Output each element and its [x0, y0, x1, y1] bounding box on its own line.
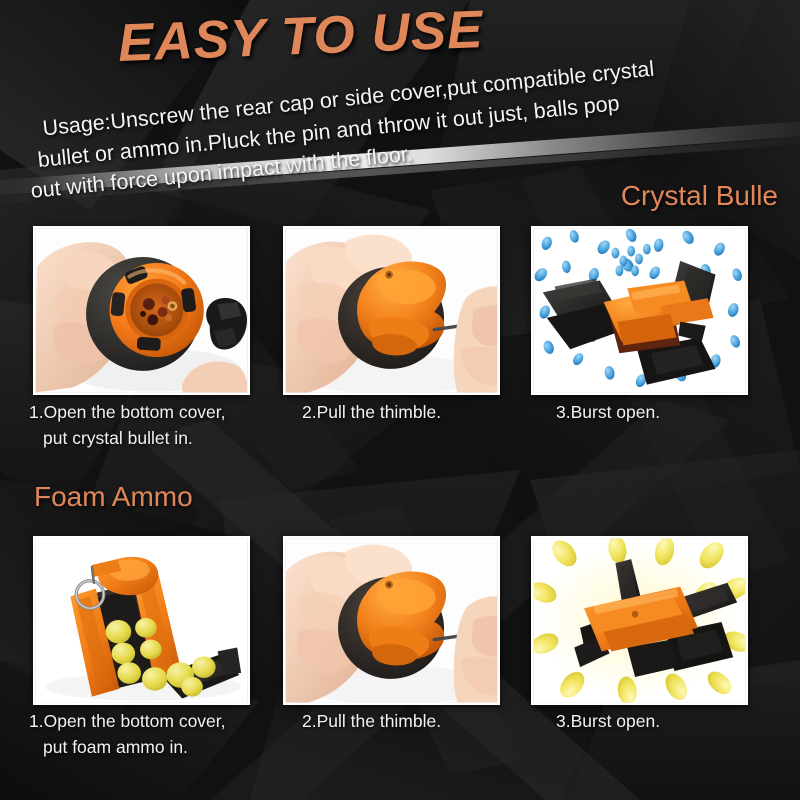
page-title: EASY TO USE [117, 0, 485, 74]
photo-frame-crystal-step2 [283, 226, 500, 395]
photo-frame-foam-step3 [531, 536, 748, 705]
caption-foam-step1: 1.Open the bottom cover,put foam ammo in… [29, 708, 226, 761]
caption-crystal-step1: 1.Open the bottom cover,put crystal bull… [29, 399, 226, 452]
caption-foam-step2: 2.Pull the thimble. [302, 708, 441, 734]
photo-hand-pulling-ring-pin-foam [285, 538, 498, 703]
product-infographic: EASY TO USE Usage:Unscrew the rear cap o… [0, 0, 800, 800]
caption-crystal-step1-line2: put crystal bullet in. [29, 425, 226, 451]
caption-foam-step1-line2: put foam ammo in. [29, 734, 226, 760]
photo-frame-foam-step1 [33, 536, 250, 705]
photo-hand-open-bottom-cover-crystal [35, 228, 248, 393]
caption-foam-step3: 3.Burst open. [556, 708, 660, 734]
photo-hand-pulling-ring-pin-crystal [285, 228, 498, 393]
caption-crystal-step2: 2.Pull the thimble. [302, 399, 441, 425]
section-heading-foam-ammo: Foam Ammo [34, 481, 193, 513]
photo-frame-crystal-step3 [531, 226, 748, 395]
photo-frame-foam-step2 [283, 536, 500, 705]
photo-burst-open-blue-crystal-balls [533, 228, 746, 393]
section-heading-crystal-bullet: Crystal Bulle [621, 180, 778, 212]
photo-open-side-cover-foam-balls [35, 538, 248, 703]
photo-frame-crystal-step1 [33, 226, 250, 395]
caption-crystal-step1-line1: 1.Open the bottom cover, [29, 402, 226, 422]
caption-foam-step1-line1: 1.Open the bottom cover, [29, 711, 226, 731]
photo-burst-open-yellow-foam-darts [533, 538, 746, 703]
caption-crystal-step3: 3.Burst open. [556, 399, 660, 425]
